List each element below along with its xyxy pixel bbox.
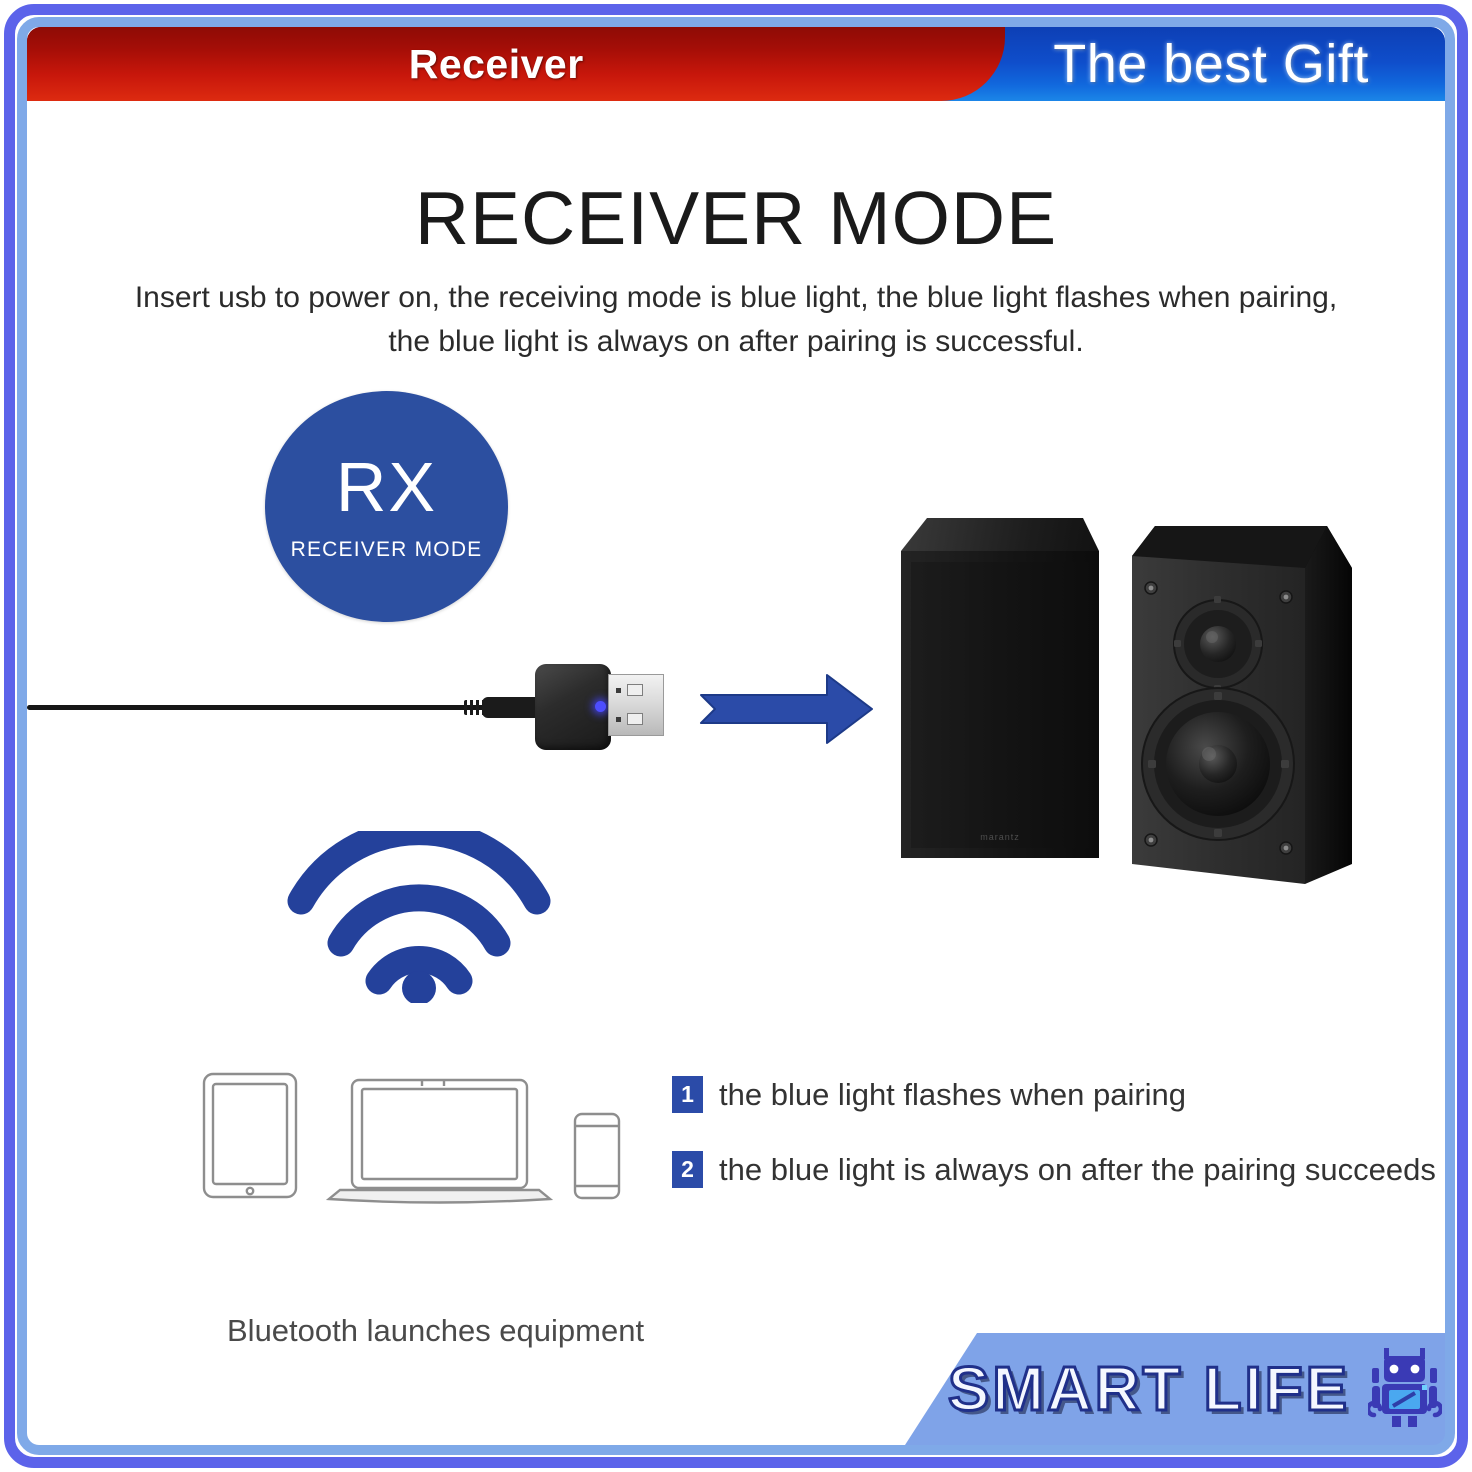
cable-strain-relief bbox=[482, 697, 540, 718]
devices-caption: Bluetooth launches equipment bbox=[227, 1313, 644, 1349]
bookshelf-speakers: marantz bbox=[887, 496, 1377, 901]
product-infographic: Receiver The best Gift RECEIVER MODE Ins… bbox=[0, 0, 1472, 1472]
speaker-right bbox=[1132, 526, 1352, 884]
svg-text:marantz: marantz bbox=[980, 832, 1020, 842]
speaker-left: marantz bbox=[901, 518, 1099, 858]
header-receiver-label: Receiver bbox=[27, 27, 1005, 101]
rx-badge-secondary-label: RECEIVER MODE bbox=[291, 538, 483, 562]
tablet-outline-icon bbox=[204, 1074, 296, 1197]
list-item: 2 the blue light is always on after the … bbox=[672, 1151, 1432, 1188]
usb-contact-bottom bbox=[627, 713, 643, 725]
right-arrow-icon bbox=[699, 669, 874, 754]
usb-pin-top bbox=[616, 688, 621, 693]
usb-pin-bottom bbox=[616, 717, 621, 722]
header-best-gift-label: The best Gift bbox=[977, 27, 1445, 101]
page-title: RECEIVER MODE bbox=[27, 175, 1445, 261]
note-number-badge: 2 bbox=[672, 1151, 703, 1188]
page-subtitle: Insert usb to power on, the receiving mo… bbox=[127, 276, 1345, 364]
header-banner: Receiver The best Gift bbox=[27, 27, 1445, 101]
note-number-badge: 1 bbox=[672, 1076, 703, 1113]
phone-outline-icon bbox=[575, 1114, 619, 1198]
wifi-signal-icon bbox=[279, 831, 559, 1008]
pairing-notes-list: 1 the blue light flashes when pairing 2 … bbox=[672, 1076, 1432, 1226]
compatible-devices-group bbox=[182, 1056, 672, 1236]
laptop-outline-icon bbox=[329, 1080, 550, 1203]
blue-led-indicator bbox=[595, 701, 606, 712]
main-content: RECEIVER MODE Insert usb to power on, th… bbox=[27, 101, 1445, 1445]
smart-life-brand-badge: SMART LIFE bbox=[905, 1333, 1445, 1445]
usb-contact-top bbox=[627, 684, 643, 696]
rx-mode-badge: RX RECEIVER MODE bbox=[265, 391, 508, 622]
note-text: the blue light flashes when pairing bbox=[719, 1077, 1186, 1113]
audio-cable bbox=[27, 705, 517, 710]
brand-text: SMART LIFE bbox=[948, 1354, 1350, 1425]
rx-badge-primary-label: RX bbox=[336, 452, 437, 522]
robot-icon bbox=[1368, 1346, 1442, 1433]
list-item: 1 the blue light flashes when pairing bbox=[672, 1076, 1432, 1113]
note-text: the blue light is always on after the pa… bbox=[719, 1152, 1436, 1188]
